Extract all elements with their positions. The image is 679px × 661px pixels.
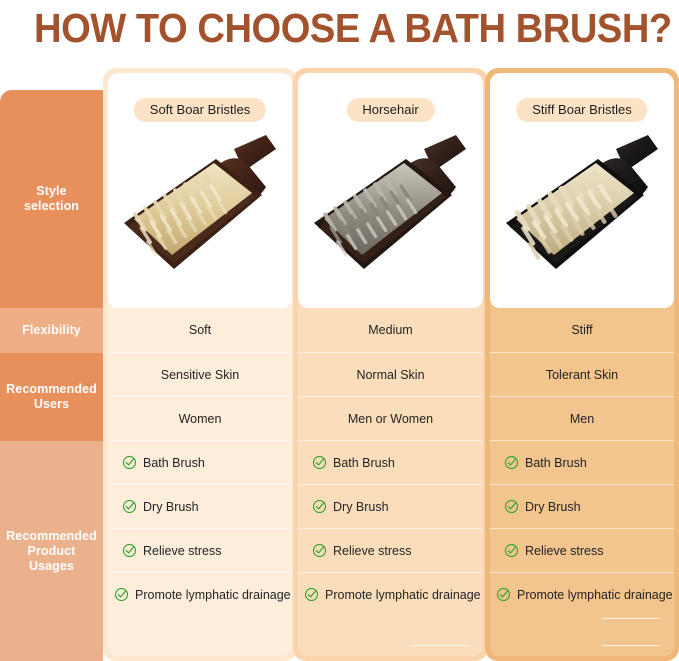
row-usage: Relieve stress: [108, 528, 292, 572]
row-divider-tail: [411, 645, 469, 646]
column-inner: Soft Boar Bristles Soft Sensitive Skin W…: [108, 73, 292, 656]
sidebar-label-line2: selection: [24, 199, 79, 213]
check-circle-icon: [122, 543, 137, 558]
sidebar-label-line2: Users: [34, 397, 69, 411]
cell-value: Dry Brush: [333, 500, 389, 514]
row-usage: Dry Brush: [490, 484, 674, 528]
cell-value: Relieve stress: [143, 544, 222, 558]
page-title-text: HOW TO CHOOSE A BATH BRUSH: [34, 5, 649, 51]
row-flexibility: Soft: [108, 308, 292, 352]
cell-value: Dry Brush: [143, 500, 199, 514]
column-inner: Horsehair Medium Normal Skin Men or Wome…: [298, 73, 483, 656]
check-circle-icon: [312, 499, 327, 514]
column-soft-boar-bristles: Soft Boar Bristles Soft Sensitive Skin W…: [103, 68, 297, 661]
sidebar-item-recommended-users: RecommendedUsers: [0, 353, 103, 441]
column-horsehair: Horsehair Medium Normal Skin Men or Wome…: [293, 68, 488, 661]
cell-value: Relieve stress: [525, 544, 604, 558]
row-usage: Promote lymphatic drainage: [298, 572, 483, 616]
sidebar-label-line3: Usages: [29, 559, 74, 573]
row-usage: Bath Brush: [298, 440, 483, 484]
column-inner: Stiff Boar Bristles Stiff Tolerant Skin …: [490, 73, 674, 656]
bath-brush-soft-boar-icon: [116, 131, 284, 303]
cell-value: Men: [570, 412, 594, 426]
cell-value: Bath Brush: [333, 456, 395, 470]
row-skin: Tolerant Skin: [490, 352, 674, 396]
cell-value: Soft: [189, 323, 211, 337]
column-header-soft-boar-bristles: Soft Boar Bristles: [134, 98, 266, 122]
cell-value: Women: [179, 412, 222, 426]
sidebar-item-recommended-product-usages: RecommendedProductUsages: [0, 441, 103, 661]
row-usage: Bath Brush: [108, 440, 292, 484]
sidebar: Styleselection Flexibility RecommendedUs…: [0, 90, 103, 661]
sidebar-label-line1: Recommended: [6, 529, 97, 543]
cell-value: Sensitive Skin: [161, 368, 240, 382]
row-users: Men or Women: [298, 396, 483, 440]
page-title-question-mark: ?: [649, 5, 672, 51]
check-circle-icon: [504, 543, 519, 558]
check-circle-icon: [312, 455, 327, 470]
cell-value: Promote lymphatic drainage: [135, 588, 291, 602]
sidebar-label-line2: Product: [28, 544, 76, 558]
row-usage: Dry Brush: [108, 484, 292, 528]
row-skin: Normal Skin: [298, 352, 483, 396]
cell-value: Promote lymphatic drainage: [517, 588, 673, 602]
row-flexibility: Stiff: [490, 308, 674, 352]
check-circle-icon: [304, 587, 319, 602]
column-rows: Soft Sensitive Skin Women Bath Brush Dry…: [108, 308, 292, 616]
check-circle-icon: [496, 587, 511, 602]
bath-brush-stiff-boar-icon: [498, 131, 666, 303]
check-circle-icon: [122, 499, 137, 514]
row-usage: Promote lymphatic drainage: [490, 572, 674, 616]
row-users: Women: [108, 396, 292, 440]
sidebar-label-line1: Flexibility: [22, 323, 81, 337]
sidebar-item-style-selection: Styleselection: [0, 90, 103, 308]
check-circle-icon: [504, 455, 519, 470]
cell-value: Bath Brush: [525, 456, 587, 470]
row-usage: Relieve stress: [490, 528, 674, 572]
column-header-stiff-boar-bristles: Stiff Boar Bristles: [516, 98, 647, 122]
comparison-columns: Soft Boar Bristles Soft Sensitive Skin W…: [103, 68, 679, 661]
column-rows: Medium Normal Skin Men or Women Bath Bru…: [298, 308, 483, 616]
row-divider-tail: [602, 618, 660, 619]
cell-value: Normal Skin: [356, 368, 424, 382]
row-skin: Sensitive Skin: [108, 352, 292, 396]
row-flexibility: Medium: [298, 308, 483, 352]
infographic-page: HOW TO CHOOSE A BATH BRUSH? Styleselecti…: [0, 0, 679, 661]
row-users: Men: [490, 396, 674, 440]
row-usage: Promote lymphatic drainage: [108, 572, 292, 616]
row-divider-tail: [602, 645, 660, 646]
page-title: HOW TO CHOOSE A BATH BRUSH?: [34, 4, 611, 52]
cell-value: Dry Brush: [525, 500, 581, 514]
sidebar-item-flexibility: Flexibility: [0, 308, 103, 353]
column-header-horsehair: Horsehair: [346, 98, 434, 122]
check-circle-icon: [312, 543, 327, 558]
cell-value: Relieve stress: [333, 544, 412, 558]
cell-value: Stiff: [571, 323, 592, 337]
sidebar-label-line1: Recommended: [6, 382, 97, 396]
column-stiff-boar-bristles: Stiff Boar Bristles Stiff Tolerant Skin …: [485, 68, 679, 661]
check-circle-icon: [504, 499, 519, 514]
row-usage: Bath Brush: [490, 440, 674, 484]
cell-value: Men or Women: [348, 412, 433, 426]
sidebar-label-line1: Style: [36, 184, 66, 198]
cell-value: Bath Brush: [143, 456, 205, 470]
row-usage: Relieve stress: [298, 528, 483, 572]
row-usage: Dry Brush: [298, 484, 483, 528]
column-rows: Stiff Tolerant Skin Men Bath Brush Dry B…: [490, 308, 674, 616]
check-circle-icon: [114, 587, 129, 602]
cell-value: Promote lymphatic drainage: [325, 588, 481, 602]
cell-value: Medium: [368, 323, 412, 337]
cell-value: Tolerant Skin: [546, 368, 618, 382]
bath-brush-horsehair-icon: [306, 131, 474, 303]
check-circle-icon: [122, 455, 137, 470]
